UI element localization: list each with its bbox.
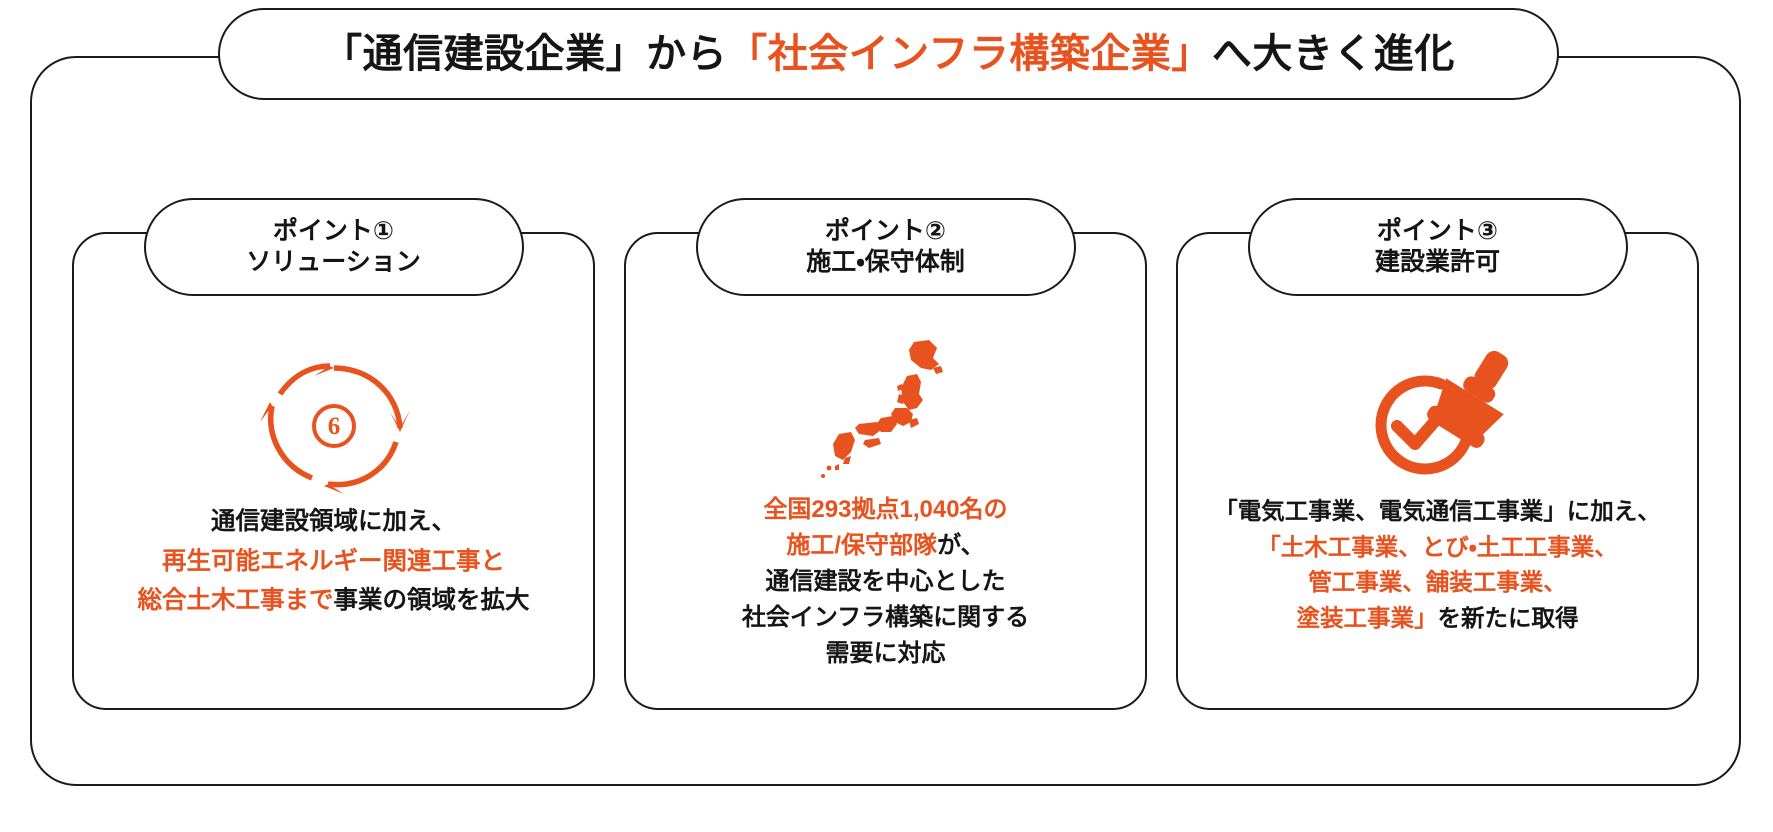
text-line: 通信建設を中心とした — [640, 564, 1131, 600]
stamp-check-icon — [1178, 342, 1697, 488]
text-line: 「土木工事業、とび・土工工事業、 — [1192, 530, 1683, 566]
title-segment-1: 「通信建設企業」から — [322, 32, 727, 76]
point-card-1-body: 6 通信建設領域に加え、 再生可能エネルギー関連工事と 総合土木工事まで事業の領… — [72, 232, 595, 710]
text-line: 管工事業、舗装工事業、 — [1192, 565, 1683, 601]
text-line: 通信建設領域に加え、 — [88, 502, 579, 542]
point-card-2-header: ポイント② 施工・保守体制 — [696, 198, 1076, 296]
point-card-1: 6 通信建設領域に加え、 再生可能エネルギー関連工事と 総合土木工事まで事業の領… — [72, 198, 595, 710]
infographic-root: 「通信建設企業」から「社会インフラ構築企業」へ大きく進化 — [0, 0, 1773, 832]
point-card-3-header: ポイント③ 建設業許可 — [1248, 198, 1628, 296]
point-card-2-text: 全国293拠点1,040名の 施工/保守部隊が、 通信建設を中心とした 社会イン… — [626, 492, 1145, 672]
title-banner: 「通信建設企業」から「社会インフラ構築企業」へ大きく進化 — [218, 8, 1559, 100]
text-line: 需要に対応 — [640, 636, 1131, 672]
text-line: 再生可能エネルギー関連工事と — [88, 542, 579, 582]
cards-row: 6 通信建設領域に加え、 再生可能エネルギー関連工事と 総合土木工事まで事業の領… — [30, 56, 1741, 786]
point-card-3-body: 「電気工事業、電気通信工事業」に加え、 「土木工事業、とび・土工工事業、 管工事… — [1176, 232, 1699, 710]
point-card-1-subtitle: ソリューション — [246, 248, 421, 278]
title-segment-highlight: 「社会インフラ構築企業」 — [727, 32, 1212, 76]
text-line: 施工/保守部隊が、 — [640, 528, 1131, 564]
svg-text:6: 6 — [327, 413, 340, 440]
point-card-2-subtitle: 施工・保守体制 — [806, 248, 965, 278]
point-card-2-body: 全国293拠点1,040名の 施工/保守部隊が、 通信建設を中心とした 社会イン… — [624, 232, 1147, 710]
point-card-3: 「電気工事業、電気通信工事業」に加え、 「土木工事業、とび・土工工事業、 管工事… — [1176, 198, 1699, 710]
title-segment-2: へ大きく進化 — [1212, 32, 1455, 76]
text-line: 社会インフラ構築に関する — [640, 600, 1131, 636]
point-card-1-header: ポイント① ソリューション — [144, 198, 524, 296]
japan-map-icon — [626, 338, 1145, 486]
point-card-2-label: ポイント② — [825, 217, 946, 247]
point-card-2: 全国293拠点1,040名の 施工/保守部隊が、 通信建設を中心とした 社会イン… — [624, 198, 1147, 710]
recycle-arrows-icon: 6 — [74, 346, 593, 496]
page-title: 「通信建設企業」から「社会インフラ構築企業」へ大きく進化 — [322, 34, 1455, 74]
text-line: 塗装工事業」を新たに取得 — [1192, 601, 1683, 637]
text-line: 総合土木工事まで事業の領域を拡大 — [88, 581, 579, 621]
point-card-3-subtitle: 建設業許可 — [1375, 248, 1500, 278]
point-card-3-label: ポイント③ — [1377, 217, 1498, 247]
point-card-3-text: 「電気工事業、電気通信工事業」に加え、 「土木工事業、とび・土工工事業、 管工事… — [1178, 494, 1697, 637]
point-card-1-label: ポイント① — [273, 217, 394, 247]
point-card-1-text: 通信建設領域に加え、 再生可能エネルギー関連工事と 総合土木工事まで事業の領域を… — [74, 502, 593, 621]
text-line: 全国293拠点1,040名の — [640, 492, 1131, 528]
text-line: 「電気工事業、電気通信工事業」に加え、 — [1192, 494, 1683, 530]
